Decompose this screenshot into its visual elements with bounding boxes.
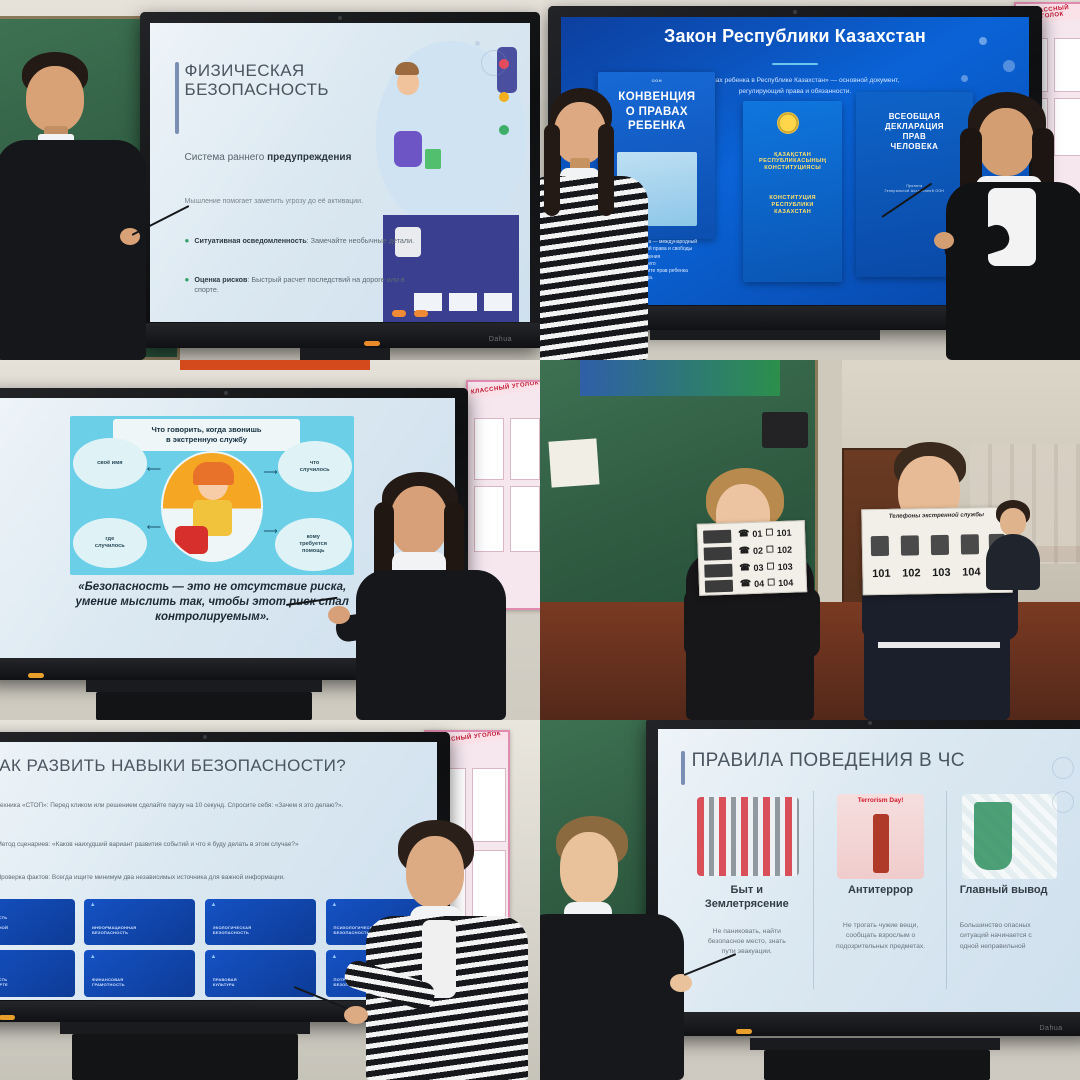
vehicle-icon: [704, 564, 732, 578]
camera-icon: [868, 721, 872, 725]
slide-title: Закон Республики Казахстан: [561, 26, 1029, 47]
student-right: [940, 92, 1080, 360]
marker-pen: [736, 1029, 752, 1034]
camera-icon: [224, 391, 228, 395]
display-stand-foot: [96, 692, 312, 720]
flag-icon: ▲: [331, 902, 337, 908]
location-pin-icon: ●: [185, 237, 190, 245]
decorative-ring: [1052, 757, 1074, 779]
flag-icon: ▲: [331, 954, 337, 960]
service-icon-police: [901, 535, 919, 555]
display-stand-foot: [72, 1034, 298, 1080]
arrow-icon: ⟶: [263, 467, 277, 478]
panel-bottom-left: КЛАССНЫЙ УГОЛОК КАК РАЗВИТЬ НАВЫКИ БЕЗОП…: [0, 720, 540, 1080]
constitution-title-ru: КОНСТИТУЦИЯ РЕСПУБЛИКИ КАЗАХСТАН: [743, 195, 841, 216]
face: [406, 836, 464, 908]
service-icon-gas: [961, 534, 979, 554]
camera-icon: [203, 735, 207, 739]
display-chin: [140, 323, 540, 348]
hand-left: [934, 232, 954, 249]
title-accent-bar: [175, 62, 179, 134]
kazakhstan-emblem: [777, 112, 799, 134]
slide-title: КАК РАЗВИТЬ НАВЫКИ БЕЗОПАСНОСТИ?: [0, 756, 346, 775]
safety-card-label: ФИНАНСОВАЯ ГРАМОТНОСТЬ: [92, 977, 125, 987]
phone-icon: ☎: [739, 562, 751, 573]
mobile-icon: ☐: [767, 577, 775, 588]
panel-middle-left: КЛАССНЫЙ УГОЛОК Что говорить, когда звон…: [0, 360, 540, 720]
service-number-101: 101: [867, 568, 895, 580]
ceiling-trim: [180, 360, 370, 370]
safety-card[interactable]: ▲ БЕЗОПАСНОСТЬ В ШКОЛЕ И ПОВСЕДНЕВНОЙ ЖИ…: [0, 899, 75, 945]
face: [1000, 508, 1026, 536]
camera-icon: [338, 16, 342, 20]
student-presenter: [0, 50, 150, 360]
service-number-103: 103: [927, 567, 955, 579]
vehicle-icon: [703, 530, 731, 544]
mobile-icon: ☐: [766, 561, 774, 572]
decorative-ring: [1052, 791, 1074, 813]
bullet-3-text: Проверка фактов: Всегда ищите минимум дв…: [0, 873, 285, 882]
vehicle-icon: [704, 547, 732, 561]
bullet-2-lead: Оценка рисков: [194, 275, 247, 284]
cs-heading: Быт и Землетрясение: [687, 884, 806, 910]
sheet-row: ☎ 02 ☐ 102: [739, 544, 793, 557]
bullet-item-2: ■ Метод сценариев: «Каков наихудший вари…: [0, 840, 414, 849]
panel-top-right: КЛАССНЫЙ УГОЛОК Закон Республики Казахст…: [540, 0, 1080, 360]
safety-card[interactable]: ▲ ФИНАНСОВАЯ ГРАМОТНОСТЬ: [84, 950, 195, 996]
safety-card[interactable]: ▲ ИНФОРМАЦИОННАЯ БЕЗОПАСНОСТЬ: [84, 899, 195, 945]
face: [390, 486, 448, 556]
flag-icon: ▲: [211, 954, 217, 960]
hair-strand: [544, 124, 560, 216]
hand-right: [670, 974, 692, 992]
face: [978, 108, 1034, 176]
display-stand-post: [750, 1038, 1000, 1050]
slide-subtitle-light: Система раннего: [185, 152, 268, 163]
torso: [986, 534, 1040, 590]
chalkboard-top-banner: [580, 360, 780, 396]
emergency-call-diagram: Что говорить, когда звонишь в экстренную…: [70, 416, 354, 575]
flag-icon: ▲: [90, 902, 96, 908]
poster-tile: [1054, 38, 1080, 92]
safety-card-label: БЕЗОПАСНОСТЬ В ШКОЛЕ И ПОВСЕДНЕВНОЙ ЖИЗН…: [0, 915, 8, 935]
display-stand-post: [86, 680, 322, 692]
sheet-row: ☎ 04 ☐ 104: [740, 577, 794, 590]
bullet-1-text: Техника «СТОП»: Перед кликом или решение…: [0, 801, 343, 810]
safety-card-label: ИНФОРМАЦИОННАЯ БЕЗОПАСНОСТЬ: [92, 925, 136, 935]
bullet-item-3: ■ Проверка фактов: Всегда ищите минимум …: [0, 873, 414, 882]
cs-column-antiterror: Terrorism Day! Антитеррор Не трогать чуж…: [823, 729, 938, 1012]
convention-kicker: ООН: [598, 78, 715, 83]
service-number-102: 102: [897, 567, 925, 579]
jacket-stripe: [878, 642, 1000, 648]
cs-heading: Главный вывод: [955, 884, 1074, 897]
old-number-3: 03: [753, 562, 763, 572]
new-number-4: 104: [778, 577, 793, 588]
poster-tile: [510, 486, 540, 552]
bubble-who-needs-help: кому требуется помощь: [275, 518, 352, 572]
service-icon-fire: [871, 536, 889, 556]
safety-card[interactable]: ▲ ЭКОЛОГИЧЕСКАЯ БЕЗОПАСНОСТЬ: [205, 899, 316, 945]
display-screen[interactable]: ФИЗИЧЕСКАЯ БЕЗОПАСНОСТЬ Система раннего …: [150, 23, 529, 322]
hair-strand: [598, 124, 614, 216]
bullet-item-2: ● Оценка рисков: Быстрый расчет последст…: [185, 275, 428, 296]
safety-card-label: ПРАВОВАЯ КУЛЬТУРА: [213, 977, 237, 987]
panel-top-left: ФИЗИЧЕСКАЯ БЕЗОПАСНОСТЬ Система раннего …: [0, 0, 540, 360]
student-presenter: [348, 472, 508, 720]
safety-card-label: БЕЗОПАСНОСТЬ НА ТРАНСПОРТЕ: [0, 977, 8, 987]
panel-bottom-right: ПРАВИЛА ПОВЕДЕНИЯ В ЧС Быт и Землетрясен…: [540, 720, 1080, 1080]
student-left: [540, 88, 648, 360]
service-icon-ambulance: [931, 535, 949, 555]
bullet-item-1: ● Ситуативная осведомленность: Замечайте…: [185, 236, 428, 246]
title-accent-bar: [681, 751, 685, 785]
marker-pen: [364, 341, 380, 346]
cs-text: Большинство опасных ситуаций начинается …: [955, 921, 1074, 952]
slide-title: ФИЗИЧЕСКАЯ БЕЗОПАСНОСТЬ: [185, 61, 329, 99]
arrow-icon: ⟵: [147, 522, 161, 533]
constitution-title-kz: ҚАЗАҚСТАН РЕСПУБЛИКАСЫНЫҢ КОНСТИТУЦИЯСЫ: [743, 152, 841, 173]
interactive-whiteboard[interactable]: ПРАВИЛА ПОВЕДЕНИЯ В ЧС Быт и Землетрясен…: [646, 720, 1080, 1036]
phone-icon: ☎: [738, 528, 750, 539]
flag-icon: ▲: [90, 954, 96, 960]
marker-pen: [0, 1015, 15, 1020]
sheet-row: ☎ 03 ☐ 103: [739, 561, 793, 574]
poster-tile: [510, 418, 540, 480]
poster-tile: [474, 418, 504, 480]
slide-subtitle-bold: предупреждения: [267, 152, 351, 163]
service-number-104: 104: [957, 566, 985, 578]
flag-icon: ▲: [211, 902, 217, 908]
display-screen[interactable]: ПРАВИЛА ПОВЕДЕНИЯ В ЧС Быт и Землетрясен…: [658, 729, 1080, 1012]
mobile-icon: ☐: [765, 527, 773, 538]
new-number-2: 102: [777, 544, 792, 555]
safety-card[interactable]: ▲ БЕЗОПАСНОСТЬ НА ТРАНСПОРТЕ: [0, 950, 75, 996]
face: [560, 832, 618, 904]
decorative-ring: [481, 50, 507, 76]
student-presenter: [360, 820, 528, 1080]
display-brand-label: Dahua: [489, 336, 512, 343]
title-underline: [772, 63, 819, 65]
display-stand-post: [650, 330, 880, 340]
column-divider: [813, 791, 814, 989]
arm-right: [786, 588, 820, 658]
display-stand-foot: [764, 1050, 990, 1080]
bubble-own-name: своё имя: [73, 438, 147, 489]
slide-subtitle: Система раннего предупреждения: [185, 152, 352, 163]
bullet-1-lead: Ситуативная осведомленность: [194, 236, 306, 245]
camera-icon: [793, 10, 797, 14]
sheet-row: ☎ 01 ☐ 101: [738, 527, 792, 540]
old-number-2: 02: [753, 545, 763, 555]
display-stand-post: [300, 348, 390, 360]
new-number-3: 103: [777, 561, 792, 572]
panel-middle-right: ☎ 01 ☐ 101 ☎ 02 ☐ 102 ☎ 03 ☐ 103 ☎ 04 ☐: [540, 360, 1080, 720]
bullet-item-1: ■ Техника «СТОП»: Перед кликом или решен…: [0, 801, 414, 810]
hand-left: [328, 606, 350, 624]
arrow-icon: ⟶: [263, 526, 277, 537]
safety-card-label: ЭКОЛОГИЧЕСКАЯ БЕЗОПАСНОСТЬ: [213, 925, 252, 935]
car-icon: ●: [185, 276, 190, 284]
phone-icon: ☎: [739, 545, 751, 556]
survival-kit-icons: [697, 797, 799, 876]
constitution-book: ҚАЗАҚСТАН РЕСПУБЛИКАСЫНЫҢ КОНСТИТУЦИЯСЫ …: [743, 101, 841, 283]
poster-heading: КЛАССНЫЙ УГОЛОК: [468, 380, 540, 399]
terrorism-day-caption: Terrorism Day!: [837, 797, 924, 804]
column-divider: [946, 791, 947, 989]
old-number-4: 04: [754, 578, 764, 588]
old-number-1: 01: [752, 528, 762, 538]
decorative-dot: [961, 75, 968, 82]
bubble-what-happened: что случилось: [278, 441, 352, 492]
illustration-boy-with-telephone: [161, 451, 263, 562]
photo-collage: ФИЗИЧЕСКАЯ БЕЗОПАСНОСТЬ Система раннего …: [0, 0, 1080, 1080]
mobile-icon: ☐: [766, 544, 774, 555]
cs-text: Не паниковать, найти безопасное место, з…: [687, 927, 806, 958]
bullet-1-text: : Замечайте необычные детали.: [307, 236, 414, 245]
display-chin: [646, 1012, 1080, 1036]
phone-icon: ☎: [740, 578, 752, 589]
cs-column-household: Быт и Землетрясение Не паниковать, найти…: [687, 729, 806, 1012]
arm-left: [684, 588, 718, 658]
interactive-whiteboard[interactable]: ФИЗИЧЕСКАЯ БЕЗОПАСНОСТЬ Система раннего …: [140, 12, 540, 348]
shield-icon: [974, 802, 1012, 870]
display-brand-label: Dahua: [1040, 1025, 1063, 1032]
torso-jacket: [0, 140, 146, 360]
arrow-icon: ⟵: [147, 464, 161, 475]
emergency-numbers-sheet-left: ☎ 01 ☐ 101 ☎ 02 ☐ 102 ☎ 03 ☐ 103 ☎ 04 ☐: [697, 520, 807, 596]
cs-heading: Антитеррор: [823, 884, 938, 897]
slide-body-text: Мышление помогает заметить угрозу до её …: [185, 197, 443, 208]
student-presenter: [540, 816, 684, 1080]
bubble-where-happened: где случилось: [73, 518, 147, 569]
bullet-2-text: Метод сценариев: «Каков наихудший вариан…: [0, 840, 299, 849]
poster-sheet-left: [548, 438, 599, 487]
cs-text: Не трогать чужие вещи, сообщать взрослым…: [823, 921, 938, 952]
face: [26, 66, 84, 132]
speaker-box: [762, 412, 808, 448]
marker-pen: [28, 673, 44, 678]
torso-jacket: [356, 570, 506, 720]
seated-pupil: [984, 500, 1042, 590]
new-number-1: 101: [776, 527, 791, 538]
vehicle-icon: [705, 580, 733, 593]
display-stand-post: [60, 1022, 310, 1034]
diagram-title: Что говорить, когда звонишь в экстренную…: [113, 419, 301, 451]
terrorist-figure: [873, 814, 889, 873]
